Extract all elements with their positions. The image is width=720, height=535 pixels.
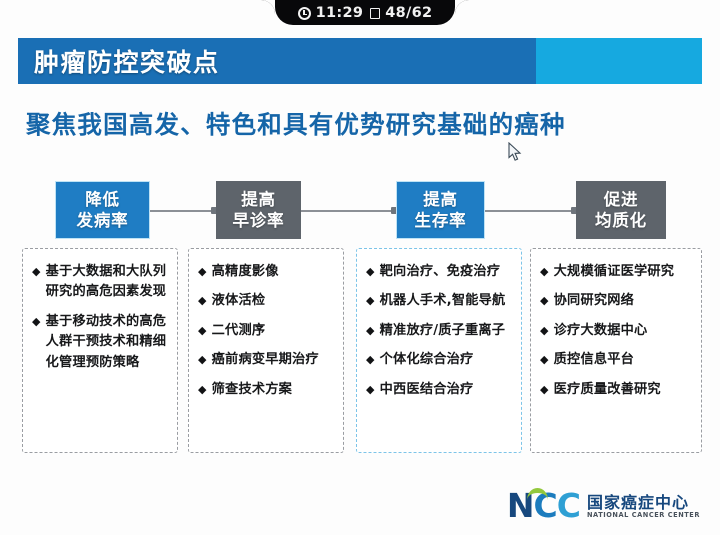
detail-panel-prevention: ◆ 基于大数据和大队列研究的高危因素发现 ◆ 基于移动技术的高危人群干预技术和精… [22, 248, 178, 453]
clock-icon [298, 7, 311, 20]
diamond-bullet-icon: ◆ [366, 291, 375, 310]
list-item-label: 中西医结合治疗 [380, 380, 474, 400]
diamond-bullet-icon: ◆ [366, 380, 375, 399]
ncc-name-block: 国家癌症中心 NATIONAL CANCER CENTER [587, 495, 700, 521]
diamond-bullet-icon: ◆ [366, 350, 375, 369]
notch-shoulder-left [261, 0, 275, 14]
title-band-accent [536, 38, 702, 84]
stage-label-line2: 生存率 [415, 210, 467, 231]
stage-label-line1: 提高 [241, 189, 276, 210]
list-item-label: 个体化综合治疗 [380, 350, 474, 370]
list-item-label: 基于移动技术的高危人群干预技术和精细化管理预防策略 [46, 312, 169, 373]
list-item: ◆ 基于移动技术的高危人群干预技术和精细化管理预防策略 [32, 312, 169, 373]
diamond-bullet-icon: ◆ [366, 321, 375, 340]
status-notch: 11:29 48/62 [275, 0, 455, 25]
slide-viewer: 11:29 48/62 肿瘤防控突破点 聚焦我国高发、特色和具有优势研究基础的癌… [0, 0, 720, 535]
stage-label-line1: 促进 [604, 189, 639, 210]
list-item-label: 高精度影像 [212, 262, 279, 282]
logo-letter-c2: C [557, 486, 580, 525]
mouse-cursor [508, 142, 522, 162]
stage-box-survival-rate[interactable]: 提高 生存率 [396, 181, 485, 239]
list-item-label: 液体活检 [212, 291, 266, 311]
slide-canvas: 肿瘤防控突破点 聚焦我国高发、特色和具有优势研究基础的癌种 降低 发病率 提高 … [0, 26, 720, 535]
list-item: ◆ 二代测序 [198, 321, 335, 341]
stage-label-line2: 早诊率 [233, 210, 285, 231]
list-item-label: 二代测序 [212, 321, 266, 341]
list-item: ◆ 中西医结合治疗 [366, 380, 513, 400]
list-item: ◆ 高精度影像 [198, 262, 335, 282]
page-title: 肿瘤防控突破点 [34, 43, 220, 79]
diamond-bullet-icon: ◆ [198, 321, 207, 340]
diamond-bullet-icon: ◆ [540, 321, 549, 340]
stage-label-line1: 提高 [423, 189, 458, 210]
list-item-label: 医疗质量改善研究 [554, 380, 661, 400]
ncc-wordmark: NCC [507, 491, 580, 521]
diamond-bullet-icon: ◆ [32, 262, 41, 281]
ncc-name-cn: 国家癌症中心 [587, 495, 700, 512]
diamond-bullet-icon: ◆ [198, 380, 207, 399]
slide-title-band: 肿瘤防控突破点 [18, 38, 702, 84]
diamond-bullet-icon: ◆ [32, 312, 41, 331]
ncc-name-en: NATIONAL CANCER CENTER [587, 512, 700, 519]
list-item: ◆ 机器人手术,智能导航 [366, 291, 513, 311]
list-item-label: 诊疗大数据中心 [554, 321, 648, 341]
page-indicator-icon [370, 8, 380, 19]
detail-panel-early-detection: ◆ 高精度影像 ◆ 液体活检 ◆ 二代测序 ◆ 癌前病变早期治疗 ◆ 筛查技 [188, 248, 344, 453]
list-item-label: 精准放疗/质子重离子 [380, 321, 506, 341]
diamond-bullet-icon: ◆ [366, 262, 375, 281]
list-item: ◆ 癌前病变早期治疗 [198, 350, 335, 370]
list-item: ◆ 筛查技术方案 [198, 380, 335, 400]
diamond-bullet-icon: ◆ [540, 291, 549, 310]
detail-list: ◆ 高精度影像 ◆ 液体活检 ◆ 二代测序 ◆ 癌前病变早期治疗 ◆ 筛查技 [198, 262, 335, 400]
detail-list: ◆ 大规模循证医学研究 ◆ 协同研究网络 ◆ 诊疗大数据中心 ◆ 质控信息平台 … [540, 262, 693, 400]
diamond-bullet-icon: ◆ [198, 350, 207, 369]
list-item: ◆ 个体化综合治疗 [366, 350, 513, 370]
list-item-label: 大规模循证医学研究 [554, 262, 675, 282]
detail-panel-quality: ◆ 大规模循证医学研究 ◆ 协同研究网络 ◆ 诊疗大数据中心 ◆ 质控信息平台 … [530, 248, 702, 453]
list-item-label: 筛查技术方案 [212, 380, 292, 400]
ncc-logo: NCC 国家癌症中心 NATIONAL CANCER CENTER [507, 491, 700, 521]
list-item-label: 质控信息平台 [554, 350, 634, 370]
list-item: ◆ 协同研究网络 [540, 291, 693, 311]
stage-label-line2: 均质化 [595, 210, 647, 231]
status-page-counter: 48/62 [385, 5, 432, 21]
list-item-label: 癌前病变早期治疗 [212, 350, 319, 370]
diamond-bullet-icon: ◆ [198, 262, 207, 281]
list-item-label: 靶向治疗、免疫治疗 [380, 262, 501, 282]
detail-list: ◆ 基于大数据和大队列研究的高危因素发现 ◆ 基于移动技术的高危人群干预技术和精… [32, 262, 169, 373]
diamond-bullet-icon: ◆ [198, 291, 207, 310]
stage-box-reduce-incidence[interactable]: 降低 发病率 [55, 181, 150, 239]
detail-panel-treatment: ◆ 靶向治疗、免疫治疗 ◆ 机器人手术,智能导航 ◆ 精准放疗/质子重离子 ◆ … [356, 248, 522, 453]
slide-subtitle: 聚焦我国高发、特色和具有优势研究基础的癌种 [26, 106, 698, 141]
list-item-label: 协同研究网络 [554, 291, 634, 311]
stage-flow-row: 降低 发病率 提高 早诊率 提高 生存率 促进 均质化 [0, 181, 720, 239]
list-item-label: 基于大数据和大队列研究的高危因素发现 [46, 262, 169, 303]
list-item: ◆ 靶向治疗、免疫治疗 [366, 262, 513, 282]
list-item: ◆ 医疗质量改善研究 [540, 380, 693, 400]
list-item: ◆ 液体活检 [198, 291, 335, 311]
notch-shoulder-right [455, 0, 469, 14]
diamond-bullet-icon: ◆ [540, 262, 549, 281]
stage-box-early-diagnosis[interactable]: 提高 早诊率 [216, 181, 301, 239]
list-item: ◆ 精准放疗/质子重离子 [366, 321, 513, 341]
list-item: ◆ 诊疗大数据中心 [540, 321, 693, 341]
list-item: ◆ 基于大数据和大队列研究的高危因素发现 [32, 262, 169, 303]
diamond-bullet-icon: ◆ [540, 350, 549, 369]
status-notch-content: 11:29 48/62 [298, 5, 433, 21]
list-item-label: 机器人手术,智能导航 [380, 291, 506, 311]
list-item: ◆ 大规模循证医学研究 [540, 262, 693, 282]
status-time: 11:29 [316, 5, 364, 21]
detail-list: ◆ 靶向治疗、免疫治疗 ◆ 机器人手术,智能导航 ◆ 精准放疗/质子重离子 ◆ … [366, 262, 513, 400]
stage-box-homogenization[interactable]: 促进 均质化 [576, 181, 666, 239]
diamond-bullet-icon: ◆ [540, 380, 549, 399]
stage-label-line1: 降低 [85, 189, 120, 210]
stage-label-line2: 发病率 [77, 210, 129, 231]
list-item: ◆ 质控信息平台 [540, 350, 693, 370]
